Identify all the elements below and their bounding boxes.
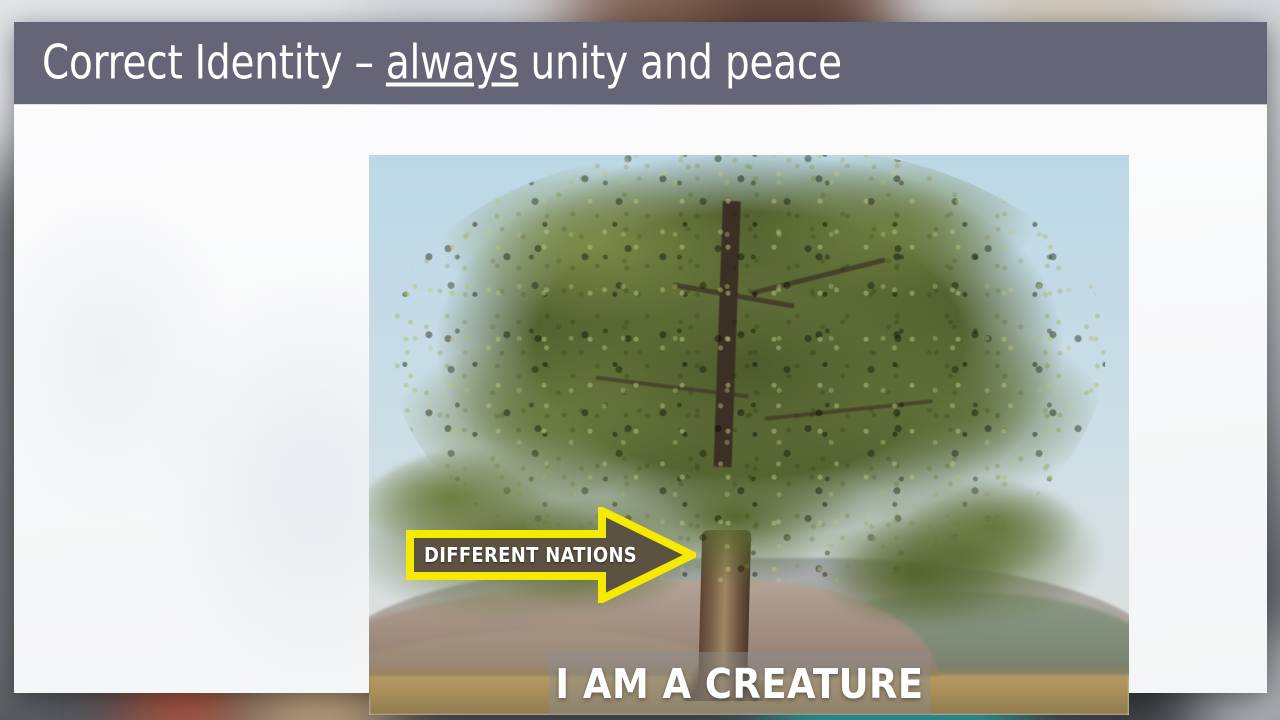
canopy-lower-right-foliage [810, 469, 1114, 637]
slide-title: Correct Identity – always unity and peac… [42, 36, 842, 91]
presentation-slide: Correct Identity – always unity and peac… [14, 22, 1267, 693]
photo-caption-band: I AM A CREATURE [549, 652, 930, 715]
tree-photo: DIFFERENT NATIONS I AM A CREATURE [369, 155, 1129, 715]
slide-title-emphasis: always [386, 36, 518, 91]
slide-title-bar: Correct Identity – always unity and peac… [14, 22, 1267, 104]
arrow-callout-label: DIFFERENT NATIONS [424, 543, 637, 567]
slide-body: DIFFERENT NATIONS I AM A CREATURE [14, 105, 1267, 693]
photo-caption-text: I AM A CREATURE [555, 660, 923, 708]
slide-title-prefix: Correct Identity – [42, 36, 386, 91]
different-nations-arrow-callout: DIFFERENT NATIONS [406, 507, 696, 603]
slide-title-suffix: unity and peace [518, 36, 842, 91]
